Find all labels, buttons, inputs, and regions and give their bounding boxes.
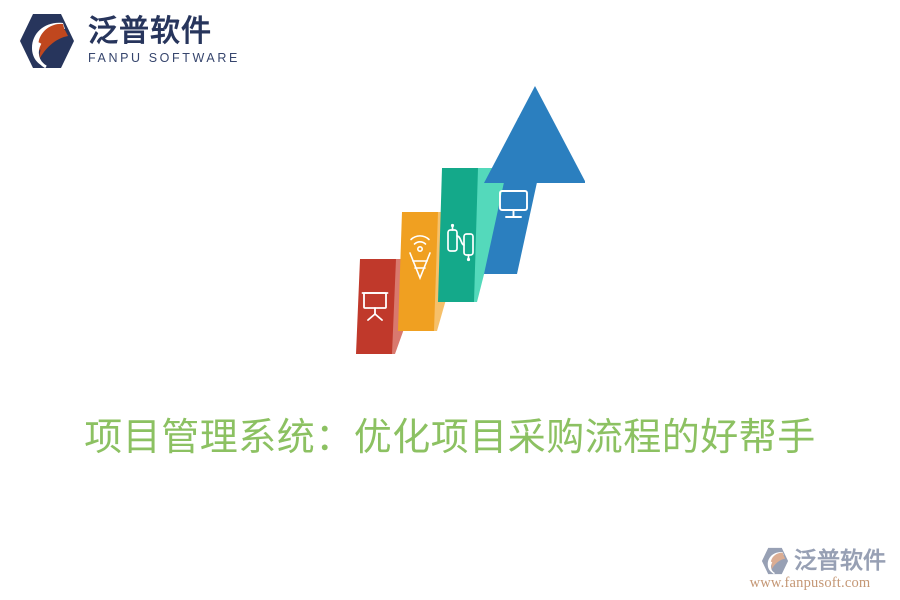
page-title: 项目管理系统：优化项目采购流程的好帮手 <box>0 411 900 463</box>
ascending-growth-arrow-graphic <box>320 78 585 378</box>
watermark-logo-row: 泛普软件 <box>736 546 886 576</box>
watermark-url: www.fanpusoft.com <box>736 575 886 592</box>
watermark-name-cn: 泛普软件 <box>794 550 886 573</box>
brand-name-cn: 泛普软件 <box>88 16 240 48</box>
fanpu-hexagon-logo-icon <box>16 10 78 72</box>
brand-wordmark: 泛普软件 FANPU SOFTWARE <box>88 14 240 68</box>
brand-name-en: FANPU SOFTWARE <box>88 49 240 68</box>
fanpu-hexagon-logo-icon <box>760 546 790 576</box>
growth-step-desktop-monitor <box>484 86 585 274</box>
watermark: 泛普软件 www.fanpusoft.com <box>736 546 886 592</box>
brand-logo: 泛普软件 FANPU SOFTWARE <box>16 10 240 72</box>
